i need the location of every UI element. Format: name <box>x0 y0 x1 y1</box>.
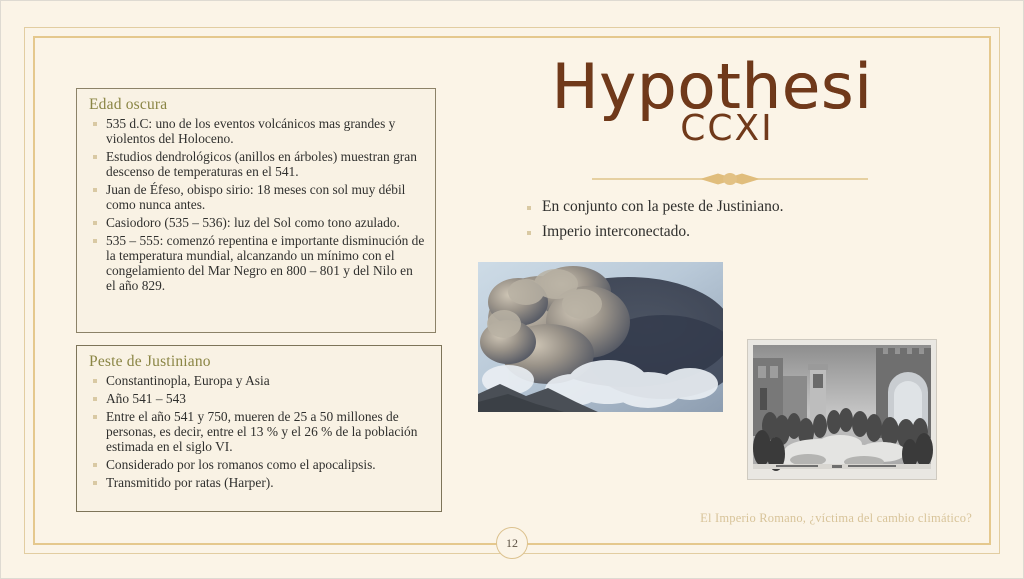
list-item: Entre el año 541 y 750, mueren de 25 a 5… <box>87 409 431 454</box>
bullet-list-peste: Constantinopla, Europa y Asia Año 541 – … <box>87 373 431 490</box>
text-box-peste-de-justiniano: Peste de Justiniano Constantinopla, Euro… <box>76 345 442 512</box>
list-item: Estudios dendrológicos (anillos en árbol… <box>87 149 425 179</box>
list-item: En conjunto con la peste de Justiniano. <box>520 198 940 217</box>
text-box-edad-oscura: Edad oscura 535 d.C: uno de los eventos … <box>76 88 436 333</box>
list-item: Casiodoro (535 – 536): luz del Sol como … <box>87 215 425 230</box>
list-item: Constantinopla, Europa y Asia <box>87 373 431 388</box>
box-heading-edad-oscura: Edad oscura <box>89 96 425 114</box>
list-item: 535 – 555: comenzó repentina e important… <box>87 233 425 293</box>
presentation-slide: Edad oscura 535 d.C: uno de los eventos … <box>0 0 1024 579</box>
list-item: Considerado por los romanos como el apoc… <box>87 457 431 472</box>
slide-title-block: Hypothesi CCXI <box>512 58 912 147</box>
list-item: Juan de Éfeso, obispo sirio: 18 meses co… <box>87 182 425 212</box>
list-item: Imperio interconectado. <box>520 223 940 242</box>
list-item: Transmitido por ratas (Harper). <box>87 475 431 490</box>
bullet-list-edad-oscura: 535 d.C: uno de los eventos volcánicos m… <box>87 116 425 293</box>
page-number-badge: 12 <box>496 527 528 559</box>
footer-note: El Imperio Romano, ¿víctima del cambio c… <box>600 511 972 526</box>
volcanic-eruption-photo <box>478 262 723 412</box>
list-item: Año 541 – 543 <box>87 391 431 406</box>
plague-engraving <box>747 339 937 480</box>
box-heading-peste-de-justiniano: Peste de Justiniano <box>89 353 431 371</box>
decorative-divider <box>592 172 868 186</box>
bullet-list-right: En conjunto con la peste de Justiniano. … <box>520 198 940 247</box>
list-item: 535 d.C: uno de los eventos volcánicos m… <box>87 116 425 146</box>
